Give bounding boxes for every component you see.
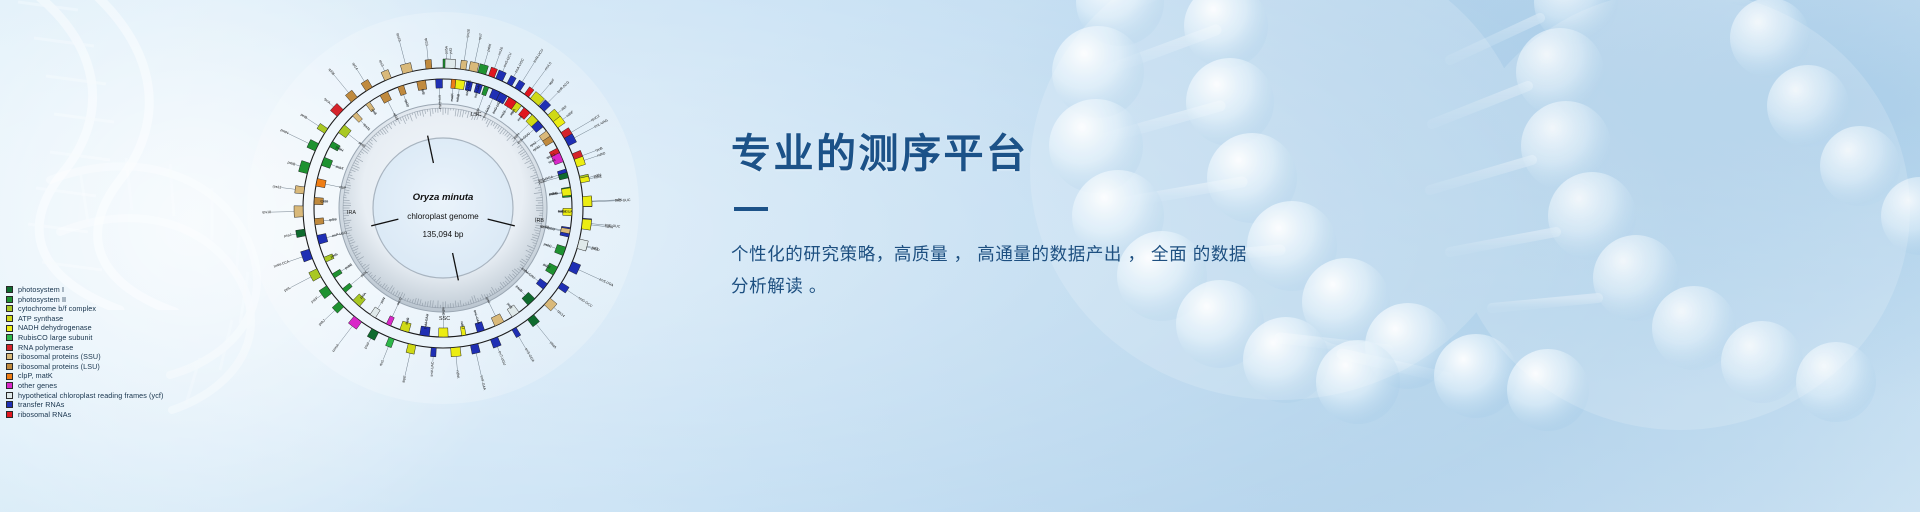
gene-label: ndhI [615,198,622,202]
page-title: 专业的测序平台 [731,132,1291,176]
gene-block [583,196,592,207]
gc-content-tick [538,190,541,191]
gene-block [314,218,324,225]
gc-content-tick [536,200,543,201]
ring-label-irb: IRB [535,218,544,224]
legend-item-label: ribosomal proteins (LSU) [18,362,100,372]
legend-color-swatch [6,344,13,351]
gene-label: rpl20 [320,199,328,203]
banner-description: 个性化的研究策略，高质量 ， 高通量的数据产出 ， 全面 的数据分析解读 。 [731,238,1251,303]
legend-color-swatch [6,325,13,332]
legend-color-swatch [6,305,13,312]
gene-label: trnI-CAU [438,95,442,109]
gene-label: matK [450,92,455,101]
legend-color-swatch [6,382,13,389]
banner-stage: LSC IRB SSC IRA Oryza minuta chloroplast… [0,0,1920,512]
legend-item-label: photosystem II [18,295,66,305]
legend-item-label: RNA polymerase [18,343,73,353]
gene-block [430,348,436,357]
genome-type-label: chloroplast genome [407,212,479,221]
gc-content-tick [453,303,454,307]
legend-item: ribosomal RNAs [6,410,164,420]
gene-label: rpl23 [424,38,429,46]
gene-block [439,328,449,337]
description-line-1: 个性化的研究策略，高质量 ， 高通量的数据产出 ， 全面 [731,244,1187,264]
gene-block [425,59,432,69]
title-accent-rule [734,207,768,211]
ring-label-ira: IRA [347,210,356,216]
gc-content-tick [463,304,464,306]
gene-label: rps18 [262,210,271,214]
gene-block [460,60,467,70]
ring-label-ssc: SSC [439,316,450,322]
gene-block [445,59,456,68]
gene-block [294,206,303,218]
legend-item-label: hypothetical chloroplast reading frames … [18,391,164,401]
gene-label: rpl33 [329,217,337,222]
legend-color-swatch [6,401,13,408]
genome-species-name: Oryza minuta [413,192,474,203]
legend-item: photosystem II [6,295,164,305]
legend-color-swatch [6,334,13,341]
legend-item-label: clpP, matK [18,371,53,381]
legend-color-swatch [6,392,13,399]
legend-item: hypothetical chloroplast reading frames … [6,391,164,401]
legend-color-swatch [6,296,13,303]
gene-block [562,188,572,196]
legend-item: RNA polymerase [6,343,164,353]
legend-item-label: RubisCO large subunit [18,333,92,343]
legend-item-label: ATP synthase [18,314,63,324]
gene-block [455,80,465,90]
legend-item: NADH dehydrogenase [6,323,164,333]
gene-block [296,229,306,237]
chloroplast-genome-map: LSC IRB SSC IRA Oryza minuta chloroplast… [243,8,643,408]
legend-item: RubisCO large subunit [6,333,164,343]
legend-color-swatch [6,286,13,293]
legend-item-label: ribosomal RNAs [18,410,71,420]
legend-item: other genes [6,381,164,391]
gene-block [451,347,461,357]
legend-item-label: ribosomal proteins (SSU) [18,352,101,362]
legend-item: transfer RNAs [6,400,164,410]
gene-category-legend: photosystem Iphotosystem IIcytochrome b/… [6,285,164,419]
legend-item: cytochrome b/f complex [6,304,164,314]
genome-size-label: 135,094 bp [423,230,464,239]
gene-block [295,186,305,194]
gene-block [581,219,591,230]
legend-item-label: NADH dehydrogenase [18,323,92,333]
gene-block [436,79,443,88]
legend-item-label: photosystem I [18,285,64,295]
gene-label: ndhA [558,210,567,214]
gene-label: ndhK [455,370,460,379]
legend-item-label: other genes [18,381,57,391]
legend-color-swatch [6,363,13,370]
legend-item: ribosomal proteins (SSU) [6,352,164,362]
legend-item-label: cytochrome b/f complex [18,304,96,314]
legend-color-swatch [6,373,13,380]
legend-color-swatch [6,315,13,322]
gene-label: ndhC [441,307,445,316]
legend-color-swatch [6,411,13,418]
legend-item: ATP synthase [6,314,164,324]
legend-color-swatch [6,353,13,360]
legend-item: photosystem I [6,285,164,295]
gene-label: ycf2 [449,48,453,55]
legend-item: clpP, matK [6,371,164,381]
banner-copy: 专业的测序平台 个性化的研究策略，高质量 ， 高通量的数据产出 ， 全面 的数据… [731,132,1291,303]
legend-item: ribosomal proteins (LSU) [6,362,164,372]
legend-item-label: transfer RNAs [18,400,64,410]
